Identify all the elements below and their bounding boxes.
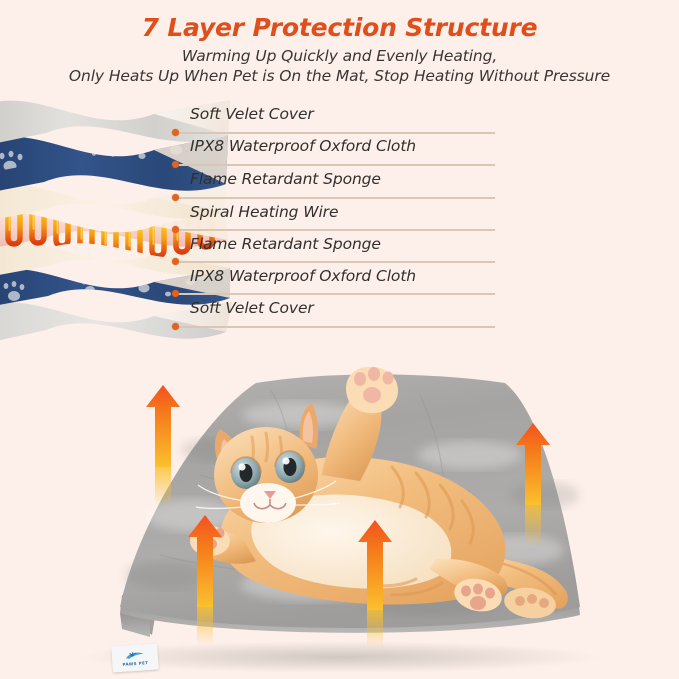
- header: 7 Layer Protection Structure Warming Up …: [0, 0, 679, 87]
- subtitle: Warming Up Quickly and Evenly Heating, O…: [0, 46, 679, 88]
- layer-label-2: IPX8 Waterproof Oxford Cloth: [190, 137, 416, 155]
- leader-dot-6: [172, 290, 179, 297]
- layer-label-1: Soft Velet Cover: [190, 105, 314, 123]
- layer-label-5: Flame Retardant Sponge: [190, 235, 381, 253]
- leader-dot-7: [172, 323, 179, 330]
- subtitle-line-1: Warming Up Quickly and Evenly Heating,: [0, 46, 679, 67]
- layer-label-7: Soft Velet Cover: [190, 299, 314, 317]
- layer-label-4: Spiral Heating Wire: [190, 203, 338, 221]
- leader-line-5: [176, 261, 495, 263]
- leader-line-1: [176, 132, 495, 134]
- leader-dot-2: [172, 161, 179, 168]
- leader-dot-3: [172, 194, 179, 201]
- leader-line-2: [176, 164, 495, 166]
- product-photo-scene: [0, 345, 679, 679]
- leader-line-6: [176, 293, 495, 295]
- leader-line-3: [176, 197, 495, 199]
- pet-brand-logo-tag: PAWS PET: [111, 643, 159, 672]
- leader-dot-5: [172, 258, 179, 265]
- layer-label-6: IPX8 Waterproof Oxford Cloth: [190, 267, 416, 285]
- leader-dot-1: [172, 129, 179, 136]
- page-title: 7 Layer Protection Structure: [0, 14, 679, 42]
- brand-tag-text: PAWS PET: [122, 661, 148, 667]
- leader-line-7: [176, 326, 495, 328]
- subtitle-line-2: Only Heats Up When Pet is On the Mat, St…: [0, 66, 679, 87]
- layer-label-list: Soft Velet Cover IPX8 Waterproof Oxford …: [0, 100, 679, 345]
- leader-line-4: [176, 229, 495, 231]
- kitten-raised-paw: [346, 367, 398, 414]
- leader-dot-4: [172, 226, 179, 233]
- infographic-page: 7 Layer Protection Structure Warming Up …: [0, 0, 679, 679]
- layer-label-3: Flame Retardant Sponge: [190, 170, 381, 188]
